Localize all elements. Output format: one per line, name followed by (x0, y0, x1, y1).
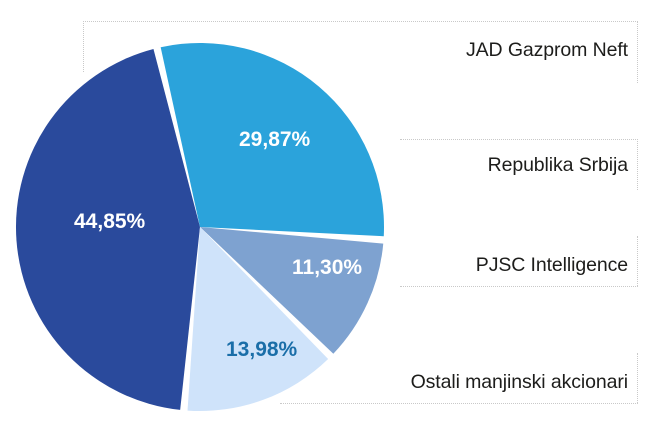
callout-ostali-manjinski-akcionari[interactable]: Ostali manjinski akcionari (280, 353, 638, 403)
callout-rule-top (400, 139, 638, 140)
callout-pjsc-intelligence[interactable]: PJSC Intelligence (400, 236, 638, 286)
callout-rule-right (637, 21, 638, 83)
callout-label-ostali-manjinski-akcionari: Ostali manjinski akcionari (411, 373, 628, 393)
callout-republika-srbija[interactable]: Republika Srbija (400, 139, 638, 190)
slice-value-pjsc-intelligence: 11,30% (292, 257, 362, 278)
callout-rule-right (637, 139, 638, 190)
callout-rule-bottom (400, 286, 638, 287)
slice-value-ostali-manjinski-akcionari: 13,98% (226, 339, 297, 360)
callout-rule-right (637, 236, 638, 286)
callout-rule-right (637, 353, 638, 403)
callout-label-republika-srbija: Republika Srbija (488, 156, 628, 176)
callout-rule-bottom (280, 403, 638, 404)
callout-jad-gazprom-neft[interactable]: JAD Gazprom Neft (83, 21, 638, 83)
callout-rule-left (83, 21, 84, 72)
callout-rule-top (83, 21, 638, 22)
callout-label-pjsc-intelligence: PJSC Intelligence (476, 256, 628, 276)
pie-chart-figure: JAD Gazprom Neft Republika Srbija PJSC I… (0, 0, 660, 431)
slice-value-jad-gazprom-neft: 44,85% (74, 211, 145, 232)
slice-value-republika-srbija: 29,87% (239, 129, 310, 150)
callout-label-jad-gazprom-neft: JAD Gazprom Neft (466, 41, 628, 61)
